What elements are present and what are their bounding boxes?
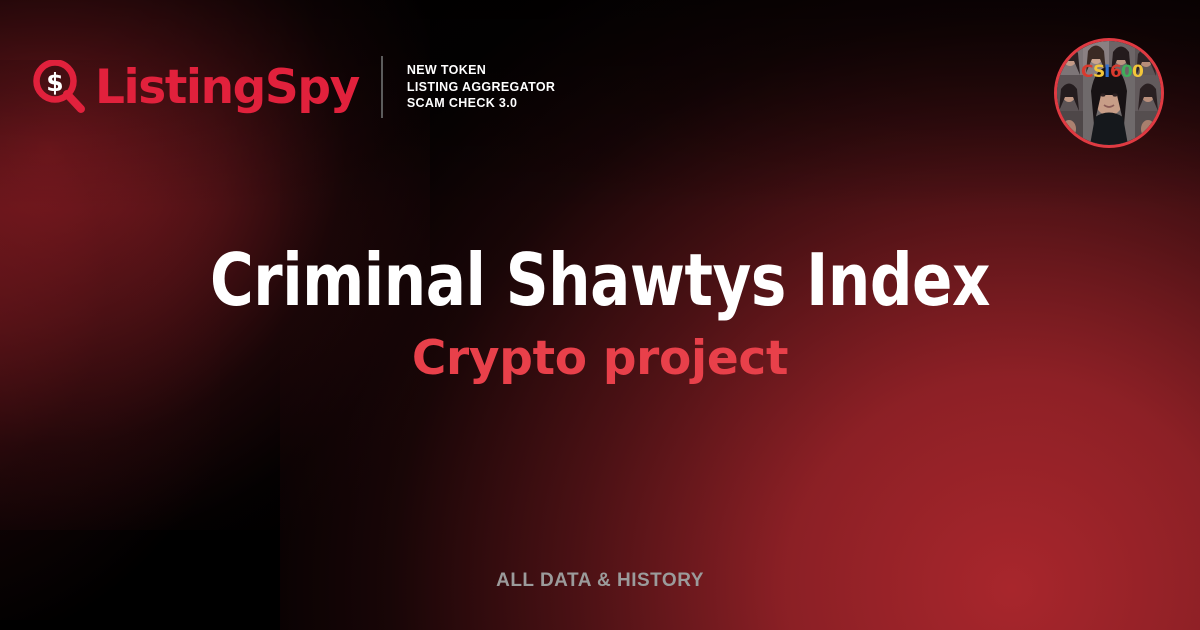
avatar-photo: C S I 6 0 0 bbox=[1057, 41, 1161, 145]
brand-tagline: NEW TOKEN LISTING AGGREGATOR SCAM CHECK … bbox=[407, 62, 555, 112]
brand-divider bbox=[381, 56, 383, 118]
page-title: Criminal Shawtys Index bbox=[48, 236, 1152, 324]
brand-name: ListingSpy bbox=[95, 64, 359, 111]
footer: ALL DATA & HISTORY bbox=[0, 570, 1200, 592]
page-subtitle: Crypto project bbox=[0, 330, 1200, 388]
svg-text:$: $ bbox=[46, 68, 63, 97]
tagline-line-2: LISTING AGGREGATOR bbox=[407, 80, 555, 94]
tagline-line-1: NEW TOKEN bbox=[407, 63, 486, 77]
svg-text:0: 0 bbox=[1132, 62, 1144, 82]
project-avatar[interactable]: C S I 6 0 0 bbox=[1054, 38, 1164, 148]
page-header: $ ListingSpy NEW TOKEN LISTING AGGREGATO… bbox=[0, 0, 1200, 160]
hero-text-block: Criminal Shawtys Index Crypto project bbox=[0, 236, 1200, 388]
magnifier-dollar-icon: $ bbox=[33, 60, 87, 114]
svg-text:C: C bbox=[1081, 62, 1093, 82]
tagline-line-3: SCAM CHECK 3.0 bbox=[407, 96, 517, 110]
promo-banner: $ ListingSpy NEW TOKEN LISTING AGGREGATO… bbox=[0, 0, 1200, 630]
footer-tagline: ALL DATA & HISTORY bbox=[496, 570, 704, 591]
brand-logo[interactable]: $ ListingSpy NEW TOKEN LISTING AGGREGATO… bbox=[33, 56, 555, 118]
